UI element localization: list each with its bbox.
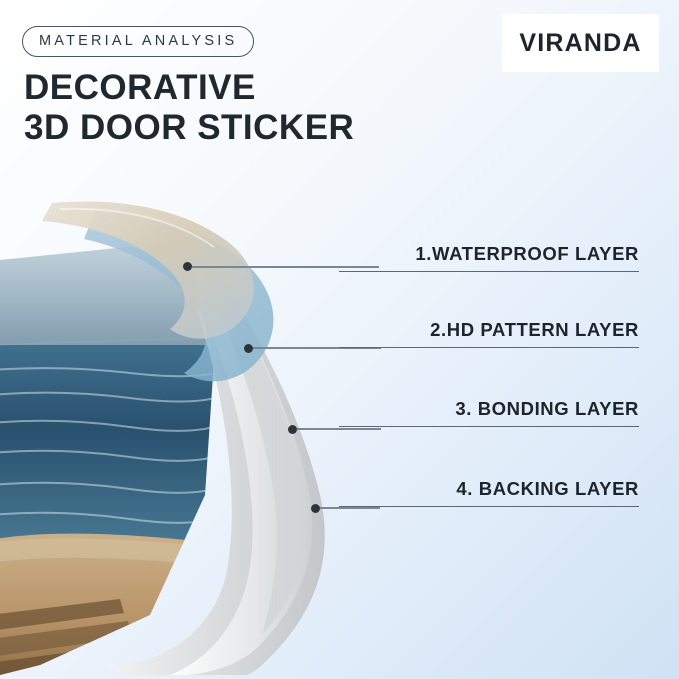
- eyebrow-label: MATERIAL ANALYSIS: [22, 26, 254, 57]
- leader-line-4: [320, 507, 380, 509]
- layer-label-waterproof: 1.WATERPROOF LAYER: [339, 243, 639, 272]
- title-line-1: DECORATIVE: [24, 68, 354, 108]
- layer-label-backing: 4. BACKING LAYER: [339, 478, 639, 507]
- page-title: DECORATIVE 3D DOOR STICKER: [24, 68, 354, 148]
- title-line-2: 3D DOOR STICKER: [24, 108, 354, 148]
- layer-label-hd-pattern: 2.HD PATTERN LAYER: [339, 319, 639, 348]
- layer-label-bonding: 3. BONDING LAYER: [339, 398, 639, 427]
- leader-dot-3: [288, 425, 297, 434]
- leader-dot-4: [311, 504, 320, 513]
- leader-dot-1: [183, 262, 192, 271]
- leader-dot-2: [244, 344, 253, 353]
- poster-canvas: MATERIAL ANALYSIS DECORATIVE 3D DOOR STI…: [0, 0, 679, 679]
- brand-logo: VIRANDA: [502, 14, 659, 72]
- brand-name: VIRANDA: [519, 29, 641, 58]
- leader-line-3: [297, 428, 381, 430]
